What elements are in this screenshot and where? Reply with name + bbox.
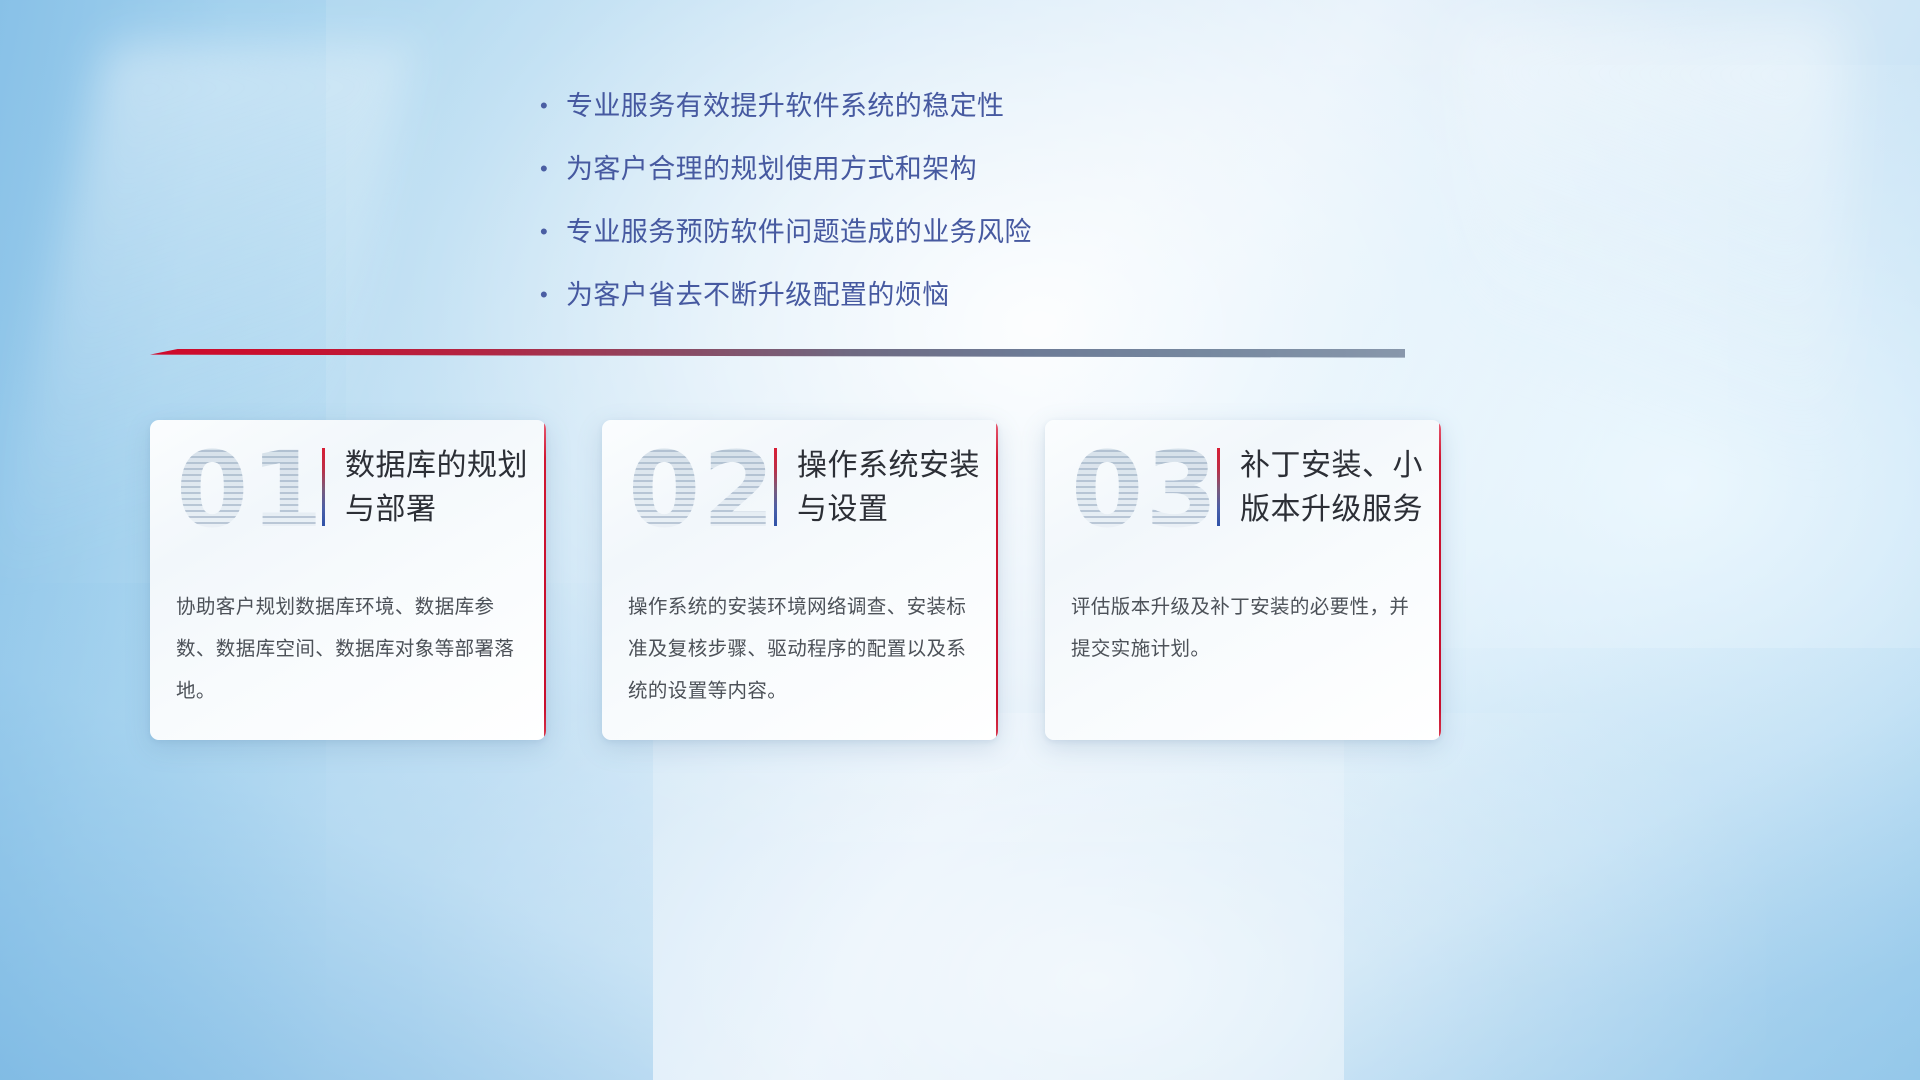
section-divider (150, 349, 1405, 363)
card-title-wrap: 数据库的规划与部署 (322, 444, 546, 532)
bullet-text: 专业服务预防软件问题造成的业务风险 (566, 214, 1032, 250)
service-card[interactable]: 03 补丁安装、小版本升级服务 评估版本升级及补丁安装的必要性，并提交实施计划。 (1045, 420, 1441, 740)
title-accent-rule (1217, 448, 1220, 526)
background-light-streak-right (1459, 22, 1843, 540)
bullet-marker-icon: • (540, 277, 566, 313)
card-header: 02 操作系统安装与设置 (602, 420, 998, 572)
card-header: 01 数据库的规划与部署 (150, 420, 546, 572)
title-accent-rule (322, 448, 325, 526)
benefits-bullet-list: • 专业服务有效提升软件系统的稳定性 • 为客户合理的规划使用方式和架构 • 专… (540, 88, 1440, 340)
card-index-number: 01 (176, 438, 325, 542)
card-description: 评估版本升级及补丁安装的必要性，并提交实施计划。 (1071, 586, 1415, 670)
bullet-item-3: • 专业服务预防软件问题造成的业务风险 (540, 214, 1440, 250)
bullet-item-1: • 专业服务有效提升软件系统的稳定性 (540, 88, 1440, 124)
bullet-text: 专业服务有效提升软件系统的稳定性 (566, 88, 1004, 124)
bullet-text: 为客户省去不断升级配置的烦恼 (566, 277, 950, 313)
card-description: 操作系统的安装环境网络调查、安装标准及复核步骤、驱动程序的配置以及系统的设置等内… (628, 586, 972, 712)
card-title-wrap: 补丁安装、小版本升级服务 (1217, 444, 1441, 532)
divider-gradient-bar (150, 349, 1405, 358)
service-card[interactable]: 02 操作系统安装与设置 操作系统的安装环境网络调查、安装标准及复核步骤、驱动程… (602, 420, 998, 740)
card-description: 协助客户规划数据库环境、数据库参数、数据库空间、数据库对象等部署落地。 (176, 586, 520, 712)
card-index-number: 02 (628, 438, 777, 542)
bullet-item-2: • 为客户合理的规划使用方式和架构 (540, 151, 1440, 187)
bullet-item-4: • 为客户省去不断升级配置的烦恼 (540, 277, 1440, 313)
card-title-wrap: 操作系统安装与设置 (774, 444, 998, 532)
bullet-text: 为客户合理的规划使用方式和架构 (566, 151, 977, 187)
card-title: 数据库的规划与部署 (345, 444, 546, 532)
service-card-group: 01 数据库的规划与部署 协助客户规划数据库环境、数据库参数、数据库空间、数据库… (150, 420, 1450, 745)
bullet-marker-icon: • (540, 88, 566, 124)
card-index-number: 03 (1071, 438, 1220, 542)
title-accent-rule (774, 448, 777, 526)
bullet-marker-icon: • (540, 151, 566, 187)
bullet-marker-icon: • (540, 214, 566, 250)
card-header: 03 补丁安装、小版本升级服务 (1045, 420, 1441, 572)
card-title: 操作系统安装与设置 (797, 444, 998, 532)
service-card[interactable]: 01 数据库的规划与部署 协助客户规划数据库环境、数据库参数、数据库空间、数据库… (150, 420, 546, 740)
card-title: 补丁安装、小版本升级服务 (1240, 444, 1441, 532)
